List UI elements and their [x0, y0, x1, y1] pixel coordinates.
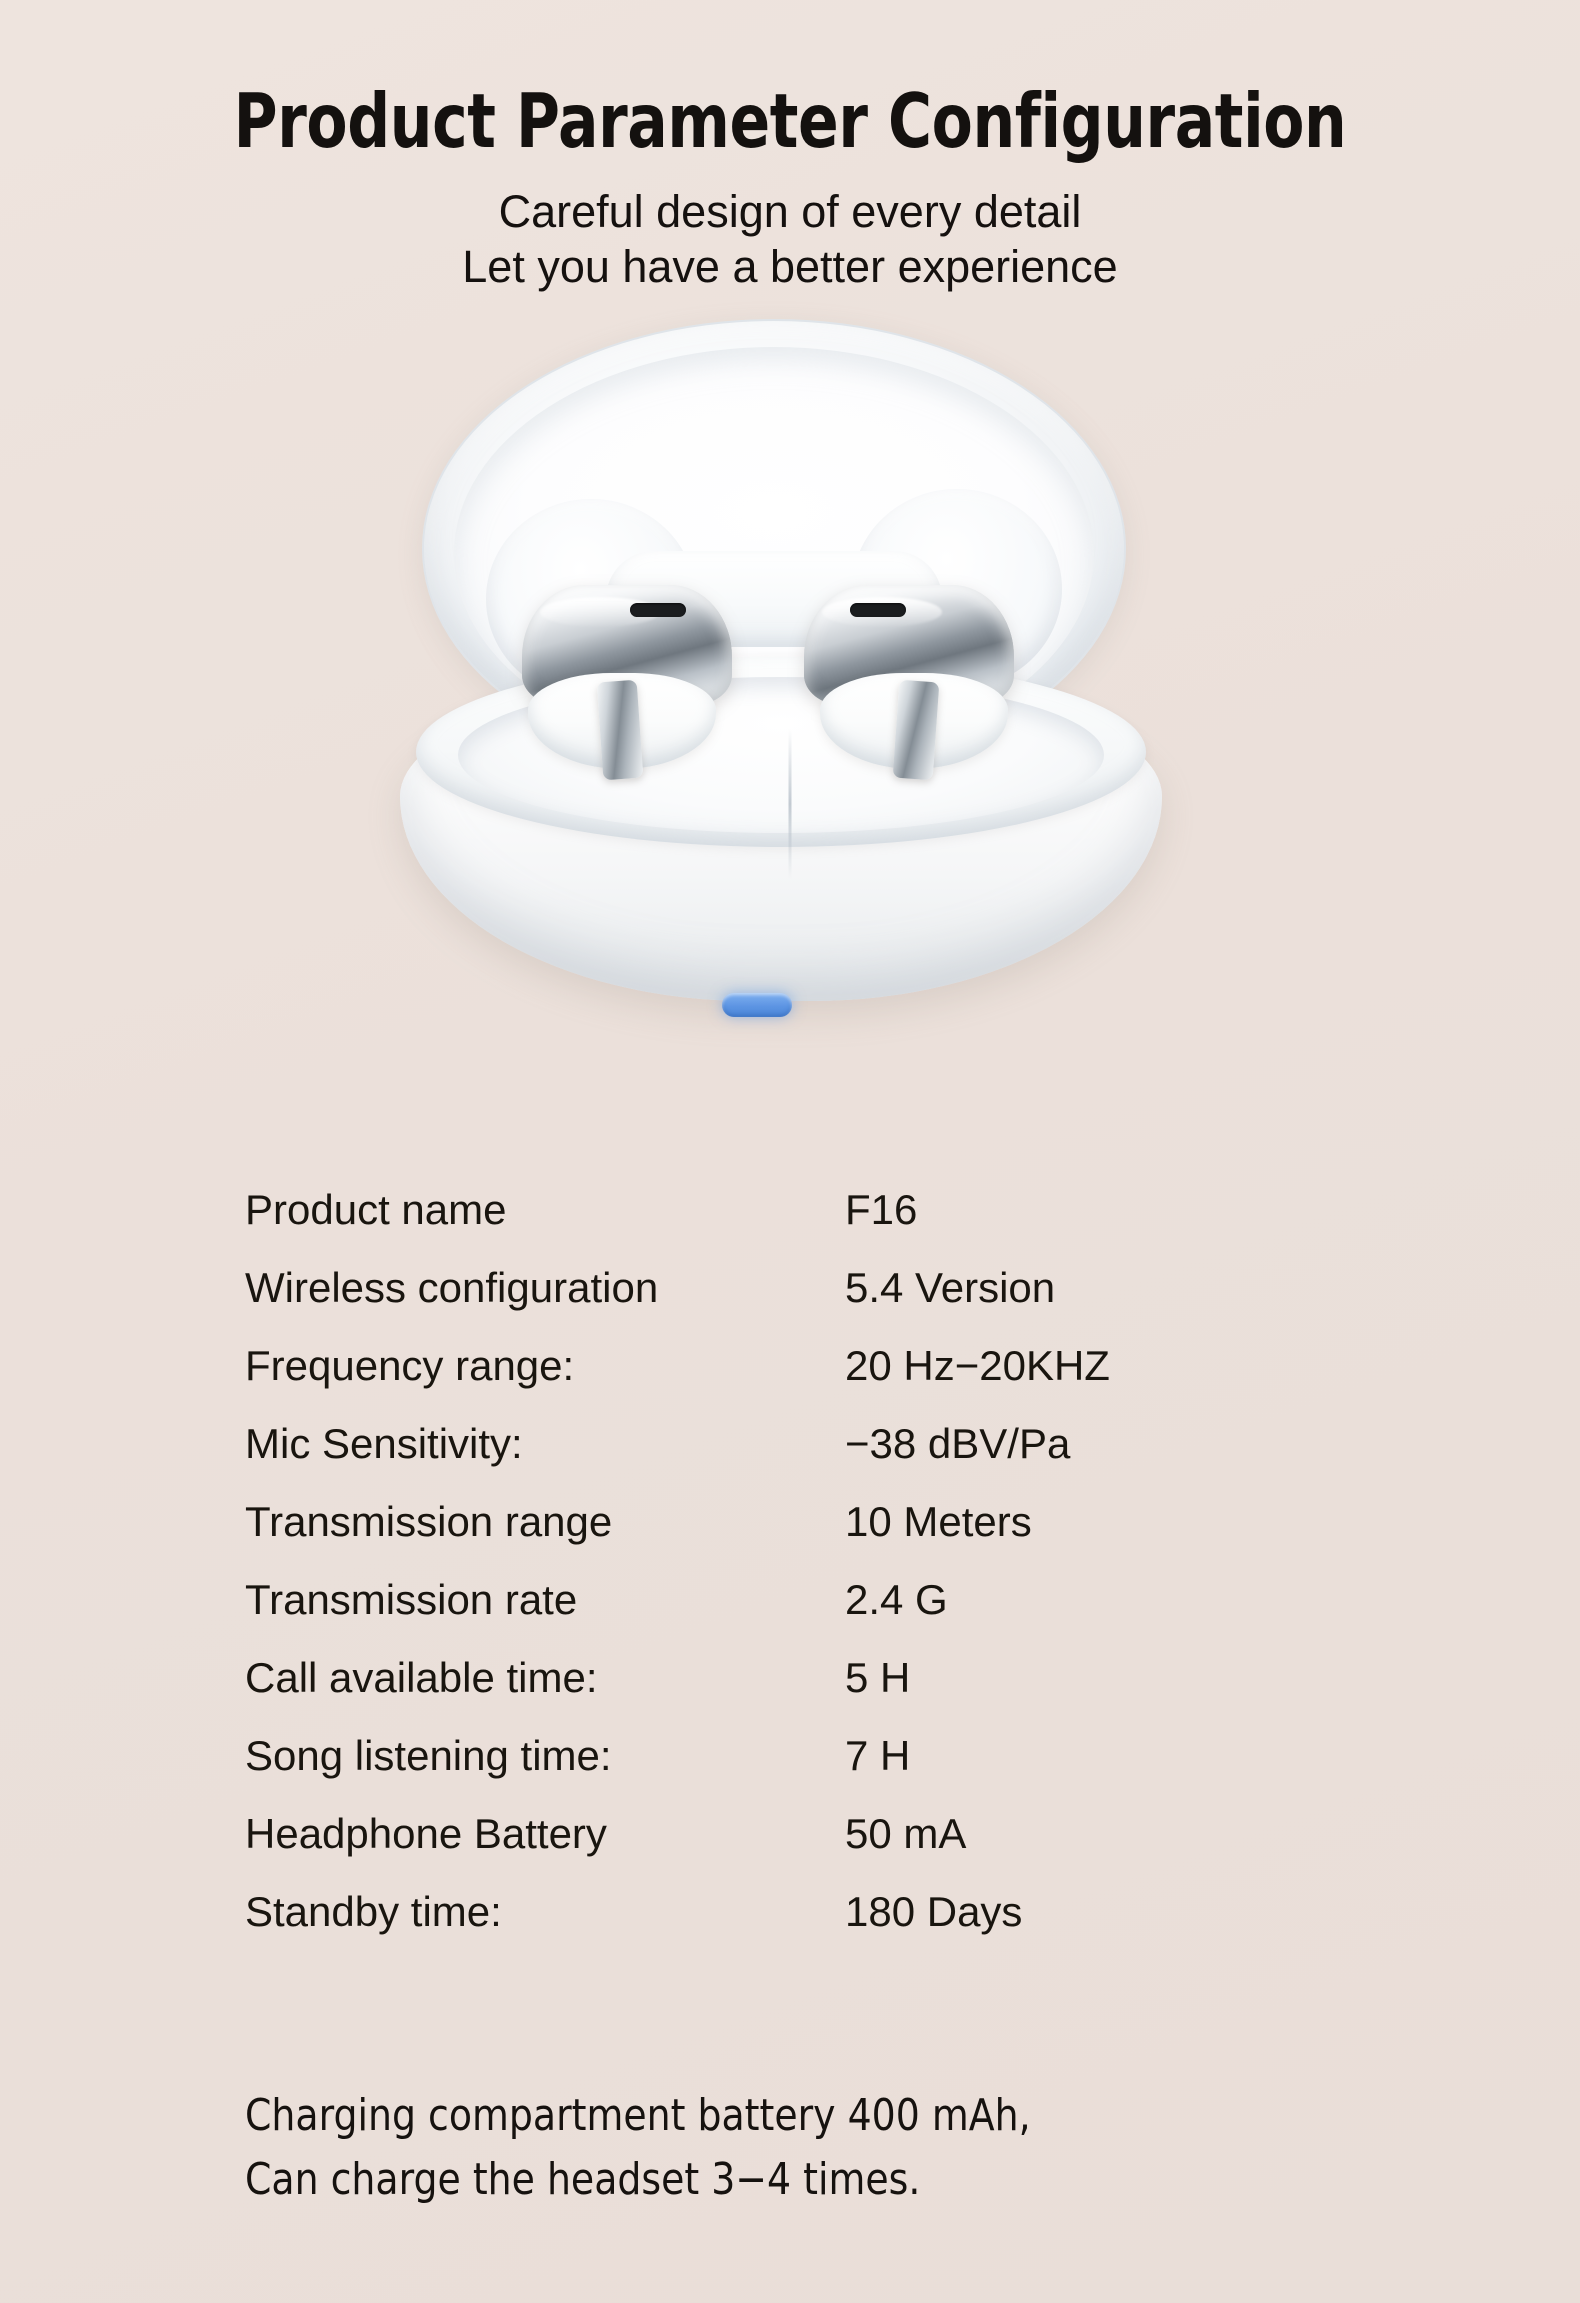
earbud-left	[522, 585, 732, 760]
product-spec-page: Product Parameter Configuration Careful …	[0, 0, 1580, 2303]
spec-row: Song listening time: 7 H	[0, 1732, 1580, 1810]
spec-value: 180 Days	[845, 1888, 1022, 1936]
spec-label: Transmission rate	[0, 1576, 845, 1624]
spec-row: Transmission rate 2.4 G	[0, 1576, 1580, 1654]
page-subtitle: Careful design of every detail Let you h…	[0, 185, 1580, 295]
earbud-right	[804, 585, 1014, 760]
spec-row: Standby time: 180 Days	[0, 1888, 1580, 1966]
spec-label: Wireless configuration	[0, 1264, 845, 1312]
spec-table: Product name F16 Wireless configuration …	[0, 1186, 1580, 1966]
earbud-left-mic-slot	[630, 603, 686, 617]
case-cradle-seam	[789, 729, 792, 879]
spec-value: 2.4 G	[845, 1576, 948, 1624]
spec-value: F16	[845, 1186, 917, 1234]
led-indicator	[722, 993, 792, 1017]
spec-row: Call available time: 5 H	[0, 1654, 1580, 1732]
charging-case	[400, 319, 1180, 1039]
spec-label: Standby time:	[0, 1888, 845, 1936]
earbud-right-mic-slot	[850, 603, 906, 617]
subtitle-line-2: Let you have a better experience	[0, 240, 1580, 295]
spec-label: Song listening time:	[0, 1732, 845, 1780]
spec-label: Product name	[0, 1186, 845, 1234]
spec-label: Call available time:	[0, 1654, 845, 1702]
spec-value: 50 mA	[845, 1810, 966, 1858]
spec-label: Headphone Battery	[0, 1810, 845, 1858]
spec-value: 10 Meters	[845, 1498, 1032, 1546]
spec-value: 7 H	[845, 1732, 910, 1780]
footer-line-1: Charging compartment battery 400 mAh,	[245, 2084, 1031, 2148]
spec-value: 5.4 Version	[845, 1264, 1055, 1312]
page-title: Product Parameter Configuration	[158, 84, 1422, 159]
spec-value: 5 H	[845, 1654, 910, 1702]
spec-label: Mic Sensitivity:	[0, 1420, 845, 1468]
spec-row: Mic Sensitivity: −38 dBV/Pa	[0, 1420, 1580, 1498]
product-image	[0, 319, 1580, 1059]
footer-line-2: Can charge the headset 3−4 times.	[245, 2148, 1031, 2212]
spec-label: Frequency range:	[0, 1342, 845, 1390]
spec-row: Transmission range 10 Meters	[0, 1498, 1580, 1576]
spec-row: Product name F16	[0, 1186, 1580, 1264]
page-header: Product Parameter Configuration Careful …	[0, 0, 1580, 295]
spec-row: Wireless configuration 5.4 Version	[0, 1264, 1580, 1342]
earbud-left-chrome-stem	[597, 680, 644, 781]
footer-note: Charging compartment battery 400 mAh, Ca…	[245, 2084, 1031, 2212]
subtitle-line-1: Careful design of every detail	[0, 185, 1580, 240]
spec-value: 20 Hz−20KHZ	[845, 1342, 1110, 1390]
spec-label: Transmission range	[0, 1498, 845, 1546]
earbud-right-chrome-stem	[893, 680, 940, 781]
spec-row: Headphone Battery 50 mA	[0, 1810, 1580, 1888]
spec-row: Frequency range: 20 Hz−20KHZ	[0, 1342, 1580, 1420]
spec-value: −38 dBV/Pa	[845, 1420, 1070, 1468]
